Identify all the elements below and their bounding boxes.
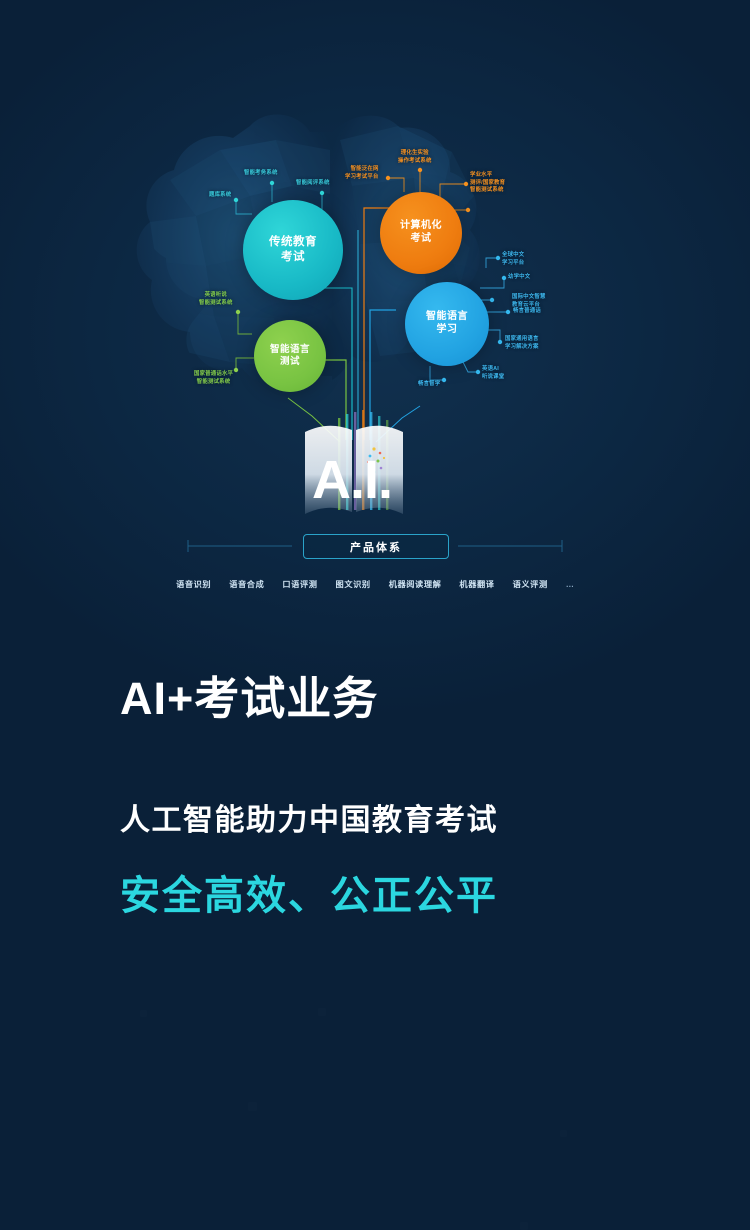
hub-smart-language-learning[interactable]: 智能语言 学习 [405,282,489,366]
bg-noise-dot [140,1010,147,1017]
leaf-english-listening-speaking-test-system[interactable]: 英语听说 智能测试系统 [199,292,233,307]
tag-more-ellipsis: … [566,580,574,589]
hub-label-line2: 学习 [437,324,458,337]
page-slogan: 安全高效、公正公平 [120,863,640,921]
bg-noise-dot [248,1102,257,1111]
leaf-national-language-learning-solution[interactable]: 国家通用语言 学习解决方案 [505,336,539,351]
leaf-national-putonghua-test-system[interactable]: 国家普通话水平 智能测试系统 [194,371,233,386]
hub-label-line2: 测试 [280,356,300,368]
tag-speech-recognition[interactable]: 语音识别 [176,578,211,590]
svg-text:A.I.: A.I. [312,450,392,510]
leaf-early-chinese-learning[interactable]: 幼学中文 [508,274,530,282]
leaf-smart-exam-admin[interactable]: 智能考务系统 [244,170,278,178]
tag-semantic-evaluation[interactable]: 语义评测 [513,578,548,590]
leaf-changyan-smart-learning[interactable]: 畅言智学 [418,381,440,389]
hub-label-line1: 智能语言 [270,344,310,356]
capability-tag-row: 语音识别 语音合成 口语评测 图文识别 机器阅读理解 机器翻译 语义评测 … [0,578,750,590]
bg-noise-dot [318,1008,326,1016]
page-title: AI+考试业务 [120,676,640,721]
page-subtitle: 人工智能助力中国教育考试 [120,795,640,839]
leaf-english-ai-listening-speaking-class[interactable]: 英语AI 听说课堂 [482,366,504,381]
hub-label-line2: 考试 [281,250,305,265]
bg-noise-dot [520,1222,528,1230]
hub-traditional-exam[interactable]: 传统教育 考试 [243,200,343,300]
tag-machine-translation[interactable]: 机器翻译 [459,578,494,590]
leaf-global-chinese-learning-platform[interactable]: 全球中文 学习平台 [502,252,524,267]
leaf-question-bank-system[interactable]: 题库系统 [209,192,231,200]
headline-block: AI+考试业务 人工智能助力中国教育考试 安全高效、公正公平 [120,676,640,921]
leaf-lab-operation-exam-system[interactable]: 理化生实验 操作考试系统 [398,150,432,165]
hub-label-line1: 传统教育 [269,235,317,250]
tag-speech-synthesis[interactable]: 语音合成 [229,578,264,590]
tag-machine-reading-comprehension[interactable]: 机器阅读理解 [389,578,442,590]
brain-illustration: A.I. 传统教育 考试 计算机化 考试 智能语言 学习 智能语言 测试 [0,0,750,620]
leaf-ubiquitous-learning-platform[interactable]: 智能泛在网 学习考试平台 [345,166,379,181]
page-root: A.I. 传统教育 考试 计算机化 考试 智能语言 学习 智能语言 测试 [0,0,750,1080]
leaf-smart-grading-system[interactable]: 智能阅评系统 [296,180,330,188]
leaf-academic-level-test-system[interactable]: 学业水平 测评/国家教育 智能测试系统 [470,172,505,195]
product-system-label: 产品体系 [350,539,402,555]
hub-computerized-exam[interactable]: 计算机化 考试 [380,192,462,274]
leaf-changyan-putonghua[interactable]: 畅言普通话 [513,308,541,316]
brain-graphic: A.I. [0,0,750,620]
hub-label-line1: 智能语言 [426,311,468,324]
product-system-badge[interactable]: 产品体系 [303,534,449,559]
tag-ocr[interactable]: 图文识别 [336,578,371,590]
hub-smart-language-testing[interactable]: 智能语言 测试 [254,320,326,392]
hub-label-line1: 计算机化 [400,220,442,233]
bg-noise-dot [560,1130,567,1137]
tag-oral-evaluation[interactable]: 口语评测 [282,578,317,590]
hub-label-line2: 考试 [411,233,432,246]
